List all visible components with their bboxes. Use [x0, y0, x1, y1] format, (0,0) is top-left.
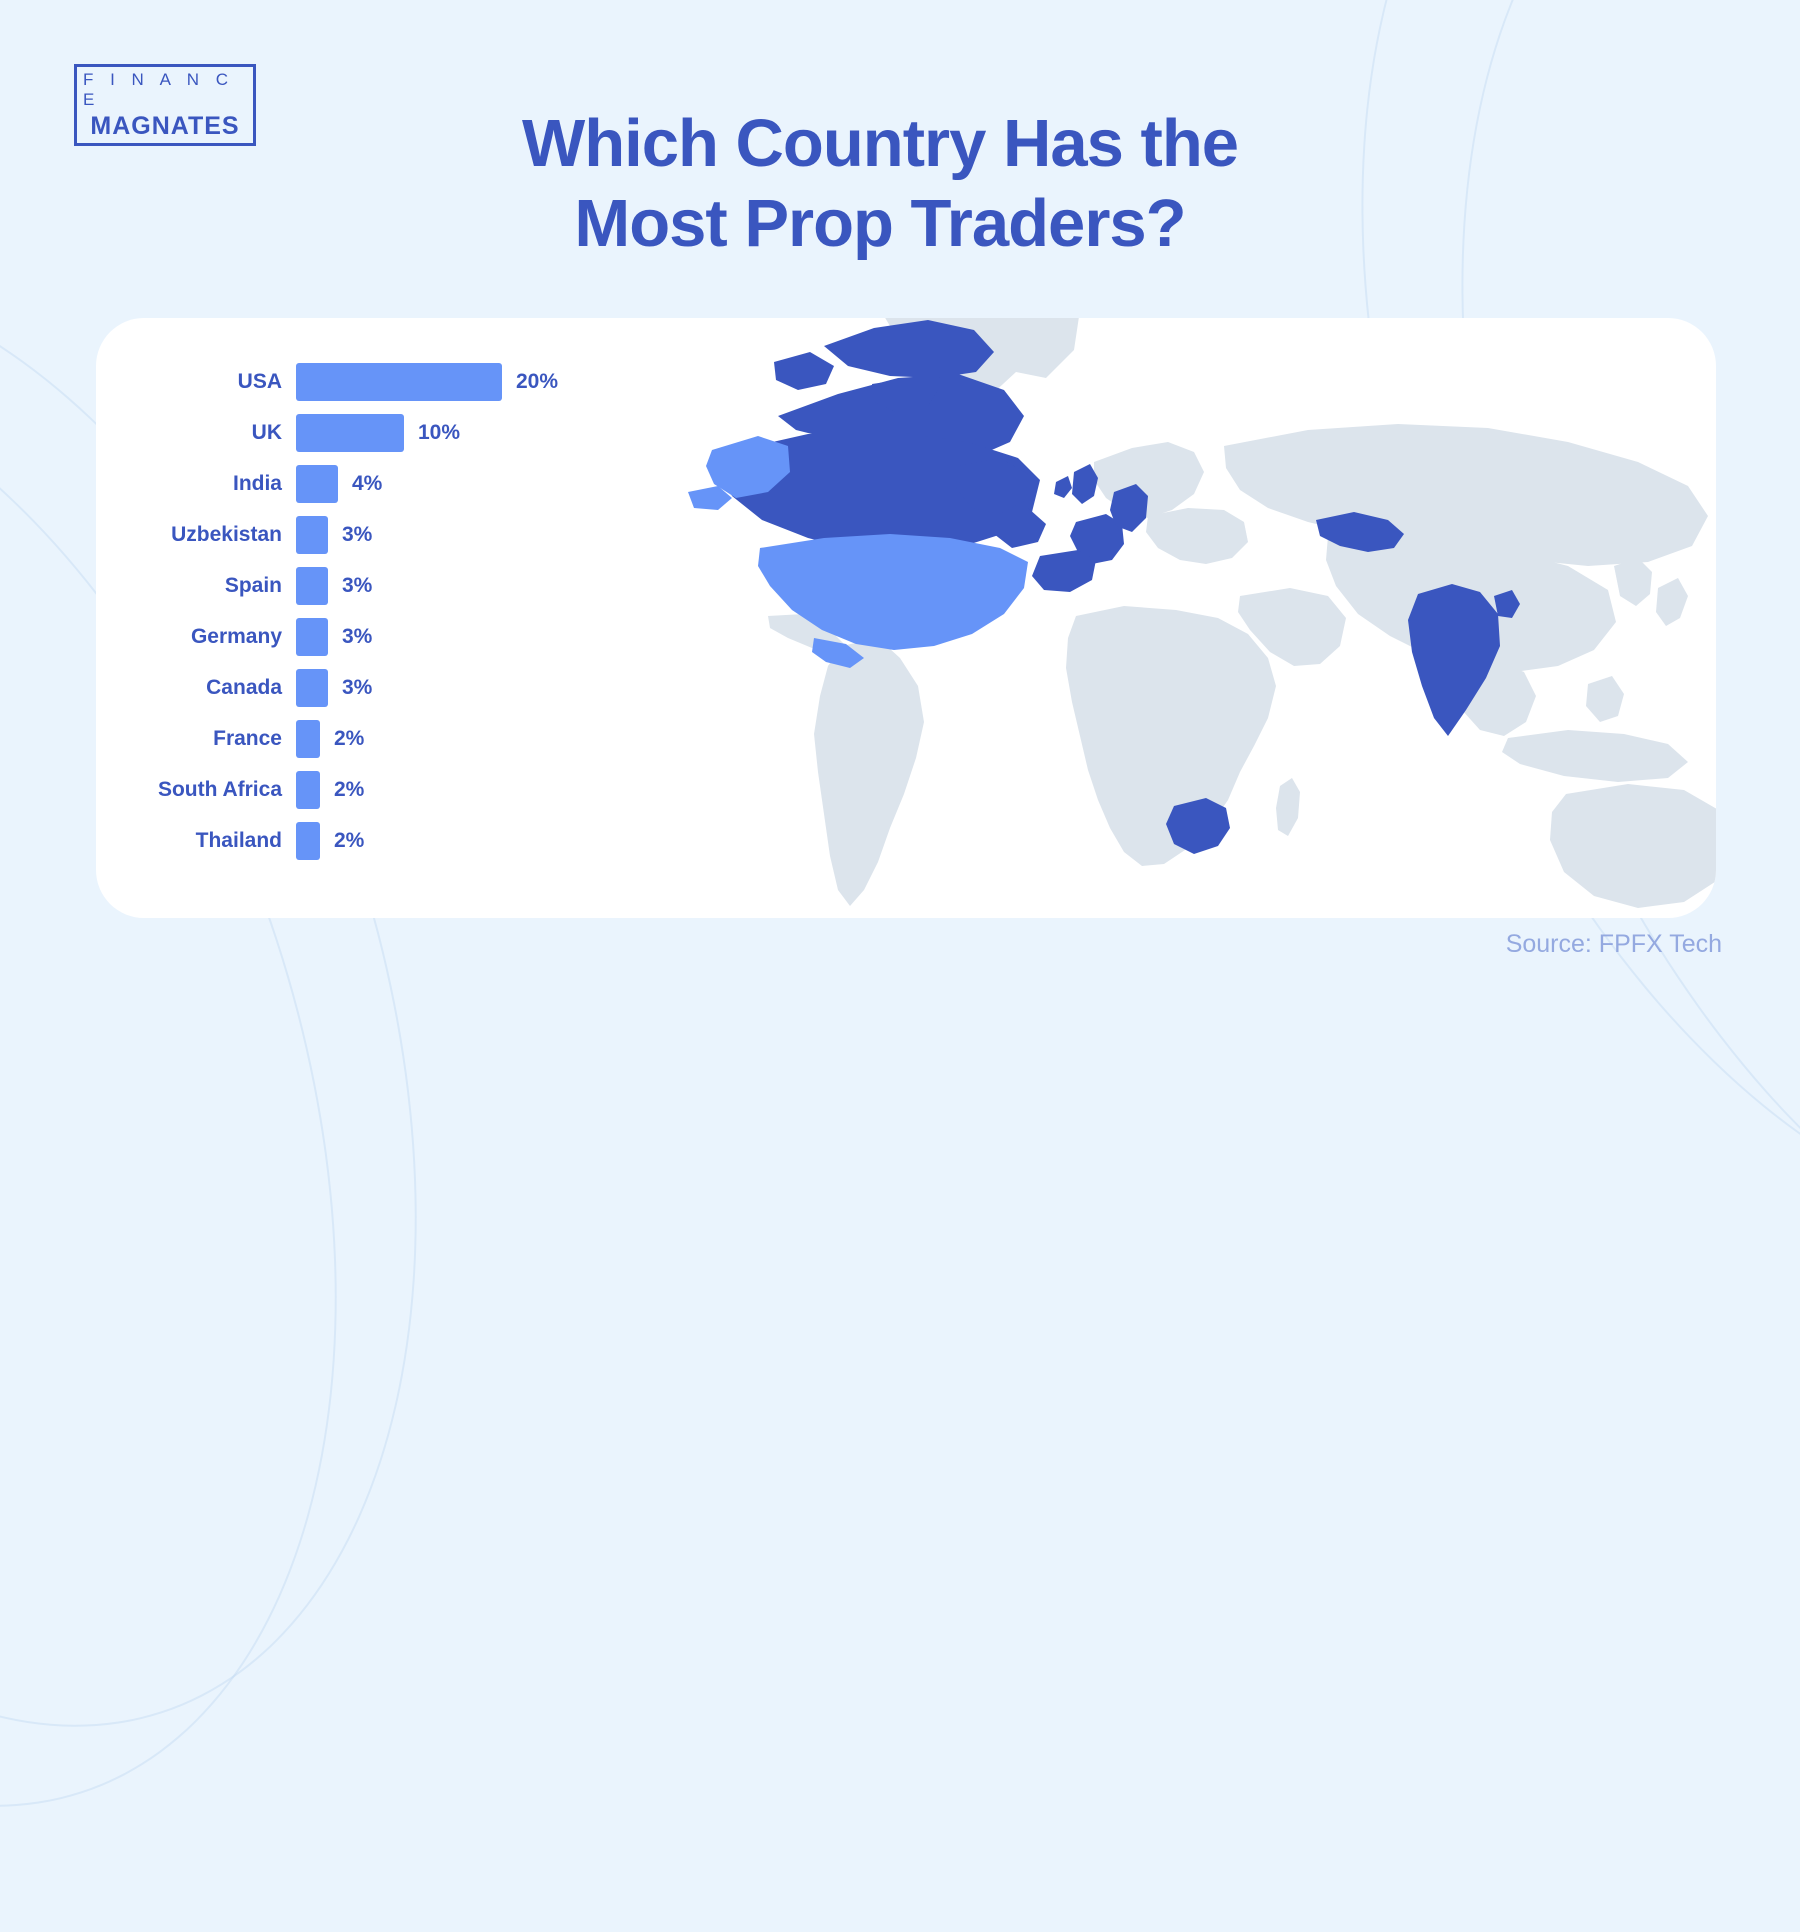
bar-label: India	[96, 472, 296, 496]
bar-fill	[296, 771, 320, 809]
bar-label: Spain	[96, 574, 296, 598]
infographic-card: USA 20% UK 10% India 4% Uzbekistan 3% Sp…	[96, 318, 1716, 918]
logo-bottom-text: MAGNATES	[90, 112, 239, 141]
chart-row: Spain 3%	[96, 560, 716, 611]
bar-value: 20%	[516, 370, 558, 394]
page-title-line-2: Most Prop Traders?	[380, 184, 1380, 264]
bar-value: 10%	[418, 421, 460, 445]
bar-label: South Africa	[96, 778, 296, 802]
chart-row: South Africa 2%	[96, 764, 716, 815]
chart-row: UK 10%	[96, 407, 716, 458]
bar-chart: USA 20% UK 10% India 4% Uzbekistan 3% Sp…	[96, 318, 716, 918]
chart-row: USA 20%	[96, 356, 716, 407]
bar-label: Thailand	[96, 829, 296, 853]
chart-row: India 4%	[96, 458, 716, 509]
bar-value: 2%	[334, 829, 364, 853]
bar-value: 3%	[342, 625, 372, 649]
page-title: Which Country Has the Most Prop Traders?	[380, 104, 1380, 265]
bar-value: 3%	[342, 676, 372, 700]
bar-fill	[296, 465, 338, 503]
bar-fill	[296, 618, 328, 656]
bar-value: 3%	[342, 574, 372, 598]
source-attribution: Source: FPFX Tech	[1506, 930, 1722, 959]
bar-value: 3%	[342, 523, 372, 547]
finance-magnates-logo: F I N A N C E MAGNATES	[74, 64, 256, 146]
chart-row: France 2%	[96, 713, 716, 764]
bar-fill	[296, 720, 320, 758]
bar-fill	[296, 567, 328, 605]
bar-fill	[296, 822, 320, 860]
bar-value: 2%	[334, 778, 364, 802]
bar-label: Germany	[96, 625, 296, 649]
chart-row: Germany 3%	[96, 611, 716, 662]
bar-label: Canada	[96, 676, 296, 700]
world-map-svg	[656, 318, 1716, 918]
bar-fill	[296, 669, 328, 707]
bar-value: 4%	[352, 472, 382, 496]
bar-label: UK	[96, 421, 296, 445]
bar-label: France	[96, 727, 296, 751]
chart-row: Canada 3%	[96, 662, 716, 713]
bar-fill	[296, 363, 502, 401]
world-map	[656, 318, 1716, 918]
logo-top-text: F I N A N C E	[77, 70, 253, 110]
bar-fill	[296, 516, 328, 554]
bar-fill	[296, 414, 404, 452]
bar-label: USA	[96, 370, 296, 394]
chart-row: Thailand 2%	[96, 815, 716, 866]
bar-label: Uzbekistan	[96, 523, 296, 547]
bar-value: 2%	[334, 727, 364, 751]
chart-row: Uzbekistan 3%	[96, 509, 716, 560]
page-title-line-1: Which Country Has the	[380, 104, 1380, 184]
